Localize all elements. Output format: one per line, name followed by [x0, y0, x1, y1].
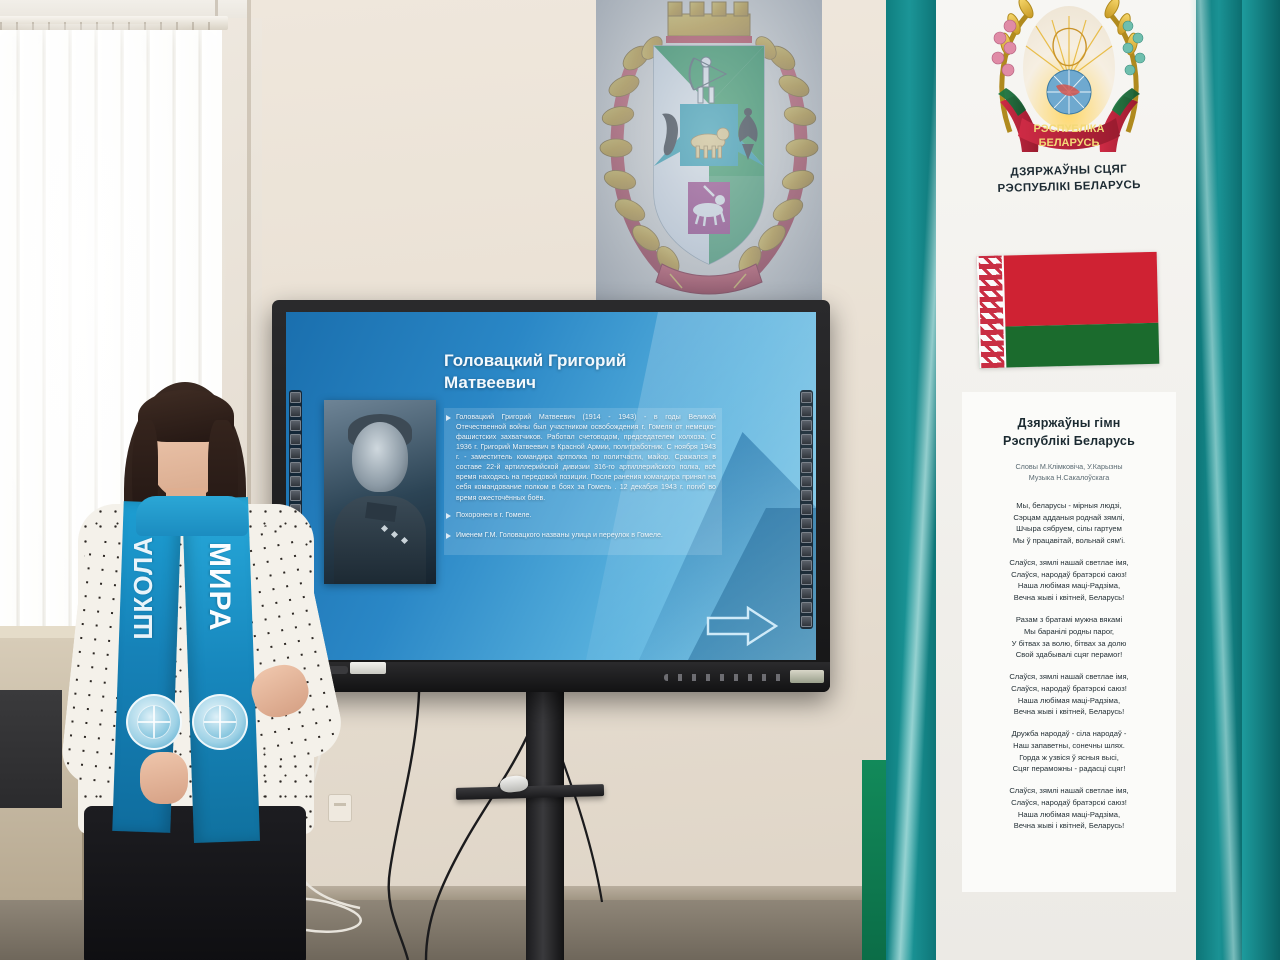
image-icon[interactable] [801, 532, 812, 543]
flag-label: ДЗЯРЖАЎНЫ СЦЯГ РЭСПУБЛІКІ БЕЛАРУСЬ [964, 161, 1175, 198]
bullet-text: Именем Г.М. Головацкого названы улица и … [456, 530, 663, 540]
belarus-flag [977, 252, 1160, 368]
usb-flash-drive[interactable] [350, 662, 386, 674]
anthem-verse: Слаўся, зямлі нашай светлае імя, Слаўся,… [972, 671, 1166, 718]
slide-bullet-list: Головацкий Григорий Матвеевич (1914 - 19… [444, 408, 722, 555]
file-icon[interactable] [801, 588, 812, 599]
move-icon[interactable] [801, 448, 812, 459]
anthem-credit-music: Музыка Н.Сакалоўскага [962, 473, 1176, 484]
blind-hooks [0, 22, 220, 30]
anthem-title-line1: Дзяржаўны гімн [962, 414, 1176, 432]
anthem-title: Дзяржаўны гімн Рэспублікі Беларусь [962, 414, 1176, 450]
select-icon[interactable] [801, 406, 812, 417]
interactive-flat-panel[interactable]: Головацкий Григорий Матвеевич Головацкий… [272, 300, 830, 692]
list-item: Похоронен в г. Гомеле. [446, 510, 716, 520]
belarus-state-symbols-poster: РЭСПУБЛІКА БЕЛАРУСЬ ДЗЯРЖАЎНЫ СЦЯГ РЭСПУ… [952, 0, 1184, 960]
presenter: ШКОЛА МИРА [40, 376, 350, 960]
emblem-backdrop [596, 0, 822, 308]
panel-control-buttons[interactable] [664, 674, 784, 681]
spotlight-icon[interactable] [801, 518, 812, 529]
left-hand [140, 752, 188, 804]
annotation-toolbar-right[interactable] [800, 390, 813, 629]
bullet-triangle-icon [446, 415, 451, 421]
anthem-verse: Мы, беларусы - мірныя людзі, Сэрцам адда… [972, 500, 1166, 547]
pen-thin-icon[interactable] [801, 476, 812, 487]
bullet-text: Похоронен в г. Гомеле. [456, 510, 531, 520]
far-teal-panel [1242, 0, 1280, 960]
ring [164, 766, 173, 772]
presentation-slide[interactable]: Головацкий Григорий Матвеевич Головацкий… [286, 312, 816, 660]
eraser-icon[interactable] [801, 490, 812, 501]
globe-icon [203, 705, 237, 739]
globe-icon [137, 705, 171, 739]
text-icon[interactable] [801, 560, 812, 571]
camera-icon[interactable] [801, 602, 812, 613]
next-slide-arrow[interactable] [704, 604, 780, 648]
arms-ribbon-line1: РЭСПУБЛІКА [1034, 123, 1105, 135]
shapes-icon[interactable] [801, 504, 812, 515]
anthem-verse: Слаўся, зямлі нашай светлае імя, Слаўся,… [972, 785, 1166, 832]
scarf-word-right: МИРА [202, 542, 236, 632]
close-icon[interactable] [801, 616, 812, 627]
anthem-verse: Разам з братамі мужна вякамі Мы баранілі… [972, 614, 1166, 661]
bullet-triangle-icon [446, 533, 451, 539]
anthem-title-line2: Рэспублікі Беларусь [962, 432, 1176, 450]
display-bottom-bezel [272, 662, 830, 692]
list-item: Головацкий Григорий Матвеевич (1914 - 19… [446, 412, 716, 503]
scarf-word-left: ШКОЛА [128, 536, 159, 640]
gomel-region-coat-of-arms [596, 0, 822, 308]
window-icon[interactable] [801, 546, 812, 557]
anthem-credit-words: Словы М.Клімковіча, У.Карызны [962, 462, 1176, 473]
classroom-photo-scene: РЭСПУБЛІКА БЕЛАРУСЬ ДЗЯРЖАЎНЫ СЦЯГ РЭСПУ… [0, 0, 1280, 960]
menu-icon[interactable] [801, 392, 812, 403]
anthem-credit: Словы М.Клімковіча, У.Карызны Музыка Н.С… [962, 462, 1176, 484]
video-icon[interactable] [801, 574, 812, 585]
scarf-collar [136, 496, 248, 536]
belarus-coat-of-arms: РЭСПУБЛІКА БЕЛАРУСЬ [966, 0, 1172, 160]
display-screen[interactable]: Головацкий Григорий Матвеевич Головацкий… [286, 312, 816, 660]
anthem-verse: Дружба народаў - сіла народаў - Наш запа… [972, 728, 1166, 775]
flag-ornament [977, 256, 1007, 369]
capture-icon[interactable] [801, 420, 812, 431]
brand-badge [790, 670, 824, 683]
anthem-verses: Мы, беларусы - мірныя людзі, Сэрцам адда… [962, 500, 1176, 832]
arms-ribbon-line2: БЕЛАРУСЬ [1039, 137, 1100, 149]
slide-title: Головацкий Григорий Матвеевич [444, 350, 704, 394]
list-item: Именем Г.М. Головацкого названы улица и … [446, 530, 716, 540]
portrait-face [352, 422, 408, 492]
anthem-card: Дзяржаўны гімн Рэспублікі Беларусь Словы… [962, 392, 1176, 892]
display-stand-column [526, 692, 564, 960]
pen-icon[interactable] [801, 462, 812, 473]
globe-emblem [126, 694, 182, 750]
belarus-emblem-graphic: РЭСПУБЛІКА БЕЛАРУСЬ [966, 0, 1172, 160]
back-icon[interactable] [801, 434, 812, 445]
anthem-verse: Слаўся, зямлі нашай светлае імя, Слаўся,… [972, 557, 1166, 604]
bullet-text: Головацкий Григорий Матвеевич (1914 - 19… [456, 412, 716, 503]
globe-emblem [192, 694, 248, 750]
bullet-triangle-icon [446, 513, 451, 519]
